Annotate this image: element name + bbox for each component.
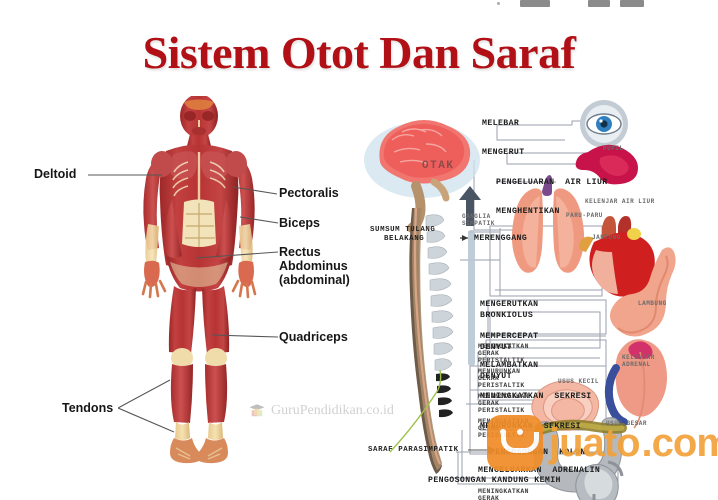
leader-line-deltoid [88, 166, 168, 184]
organ-paru-paru: PARU-PARU [566, 212, 603, 219]
organ-kelenjar-adrenal-1: KELENJAR [622, 354, 655, 361]
label-abdominus: Abdominus [279, 259, 348, 273]
label-deltoid: Deltoid [34, 167, 76, 181]
organ-usus-kecil: USUS KECIL [558, 378, 599, 385]
label-biceps: Biceps [279, 216, 320, 230]
action-mengerutkan: MENGERUTKAN [480, 300, 538, 309]
action-mempercepat: MEMPERCEPAT [480, 332, 538, 341]
peristalsis-c-l3: PERISTALTIK [478, 407, 525, 414]
action-menghentikan: MENGHENTIKAN [496, 207, 560, 216]
juato-logo-icon [487, 415, 543, 471]
graduation-cube-icon [248, 402, 266, 420]
leader-line-pectoralis [233, 186, 281, 204]
action-bronkiolus: BRONKIOLUS [480, 311, 533, 320]
leader-line-tendons [118, 370, 198, 440]
watermark-juato-name: juato [549, 421, 640, 466]
label-pectoralis: Pectoralis [279, 186, 339, 200]
label-abdominal-paren: (abdominal) [279, 273, 350, 287]
leader-line-quadriceps [212, 330, 282, 346]
action-merenggang: MERENGGANG [474, 234, 527, 243]
label-quadriceps: Quadriceps [279, 330, 348, 344]
watermark-juato-tld: .com [642, 421, 718, 466]
watermark-guru-text: GuruPendidikan.co.id [271, 403, 394, 419]
watermark-gurupendidikan: GuruPendidikan.co.id [248, 402, 394, 420]
organ-lambung: LAMBUNG [638, 300, 667, 307]
action-mengerut: MENGERUT [482, 148, 525, 157]
page-title: Sistem Otot Dan Saraf [0, 26, 718, 79]
peristalsis-1-line2: GERAK [478, 495, 499, 500]
label-ganglia-2: SIMPATIK [462, 220, 495, 227]
label-tendons: Tendons [62, 401, 113, 415]
label-saraf-parasimpatik: SARAF PARASIMPATIK [368, 446, 459, 455]
organ-kelenjar-adrenal-2: ADRENAL [622, 361, 651, 368]
label-sumsum-tulang-1: SUMSUM TULANG [370, 226, 435, 235]
watermark-juato: juato .com [487, 415, 718, 471]
label-otak: OTAK [422, 160, 454, 172]
organ-pupil: PUPIL [603, 145, 624, 152]
label-sumsum-tulang-2: BELAKANG [384, 235, 424, 244]
organ-jantung: JANTUNG [592, 234, 621, 241]
leader-line-biceps [240, 215, 282, 231]
image-canvas: Sistem Otot Dan Saraf [0, 0, 718, 500]
cropped-browser-chrome [0, 0, 718, 11]
label-ganglia-1: GANGLIA [462, 213, 491, 220]
peristalsis-a-l3: PERISTALTIK [478, 357, 525, 364]
organ-kelenjar-air-liur: KELENJAR AIR LIUR [585, 198, 655, 205]
peristalsis-b-l3: PERISTALTIK [478, 382, 525, 389]
action-melebar: MELEBAR [482, 119, 519, 128]
leader-line-rectus-abdominus [196, 244, 282, 262]
label-rectus: Rectus [279, 245, 321, 259]
action-pengosongan-kandung-kemih: PENGOSONGAN KANDUNG KEMIH [428, 476, 561, 485]
action-pengeluaran-air-liur: PENGELUARAN AIR LIUR [496, 178, 608, 187]
